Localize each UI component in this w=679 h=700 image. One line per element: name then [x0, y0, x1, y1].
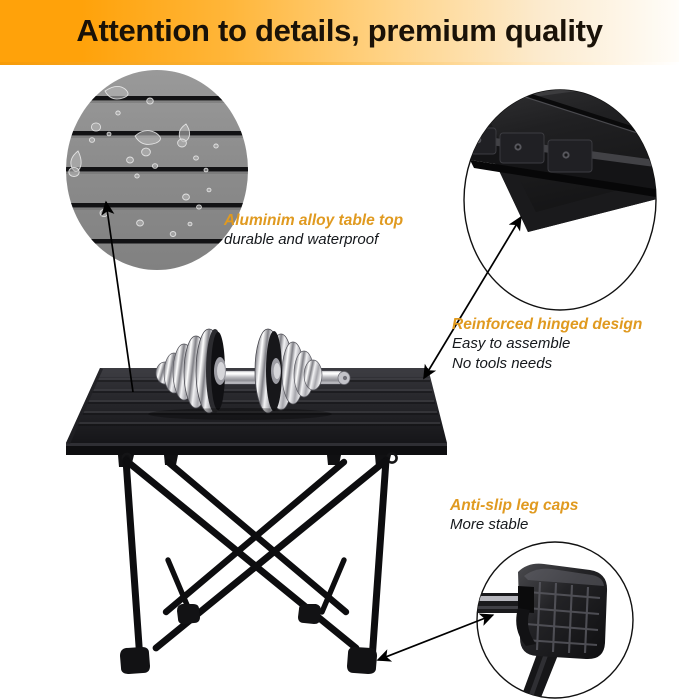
table-foot-caps: [120, 604, 377, 674]
callout-heading: Aluminim alloy table top: [224, 211, 403, 230]
table-legs: [126, 460, 386, 660]
callout-line: No tools needs: [452, 354, 642, 374]
callout-line: durable and waterproof: [224, 230, 403, 250]
callout-leg-caps: Anti-slip leg caps More stable: [450, 496, 578, 535]
arrow-to-legcap-detail: [378, 615, 493, 660]
callout-aluminum-top: Aluminim alloy table top durable and wat…: [224, 211, 403, 250]
detail-photo-foot-cap: [470, 542, 633, 700]
callout-heading: Anti-slip leg caps: [450, 496, 578, 515]
detail-photo-hinge-edge: [462, 60, 679, 310]
callout-hinged-design: Reinforced hinged design Easy to assembl…: [452, 315, 642, 373]
callout-line: Easy to assemble: [452, 334, 642, 354]
callout-line: More stable: [450, 515, 578, 535]
table-frame-brackets: [118, 453, 397, 467]
callout-heading: Reinforced hinged design: [452, 315, 642, 334]
